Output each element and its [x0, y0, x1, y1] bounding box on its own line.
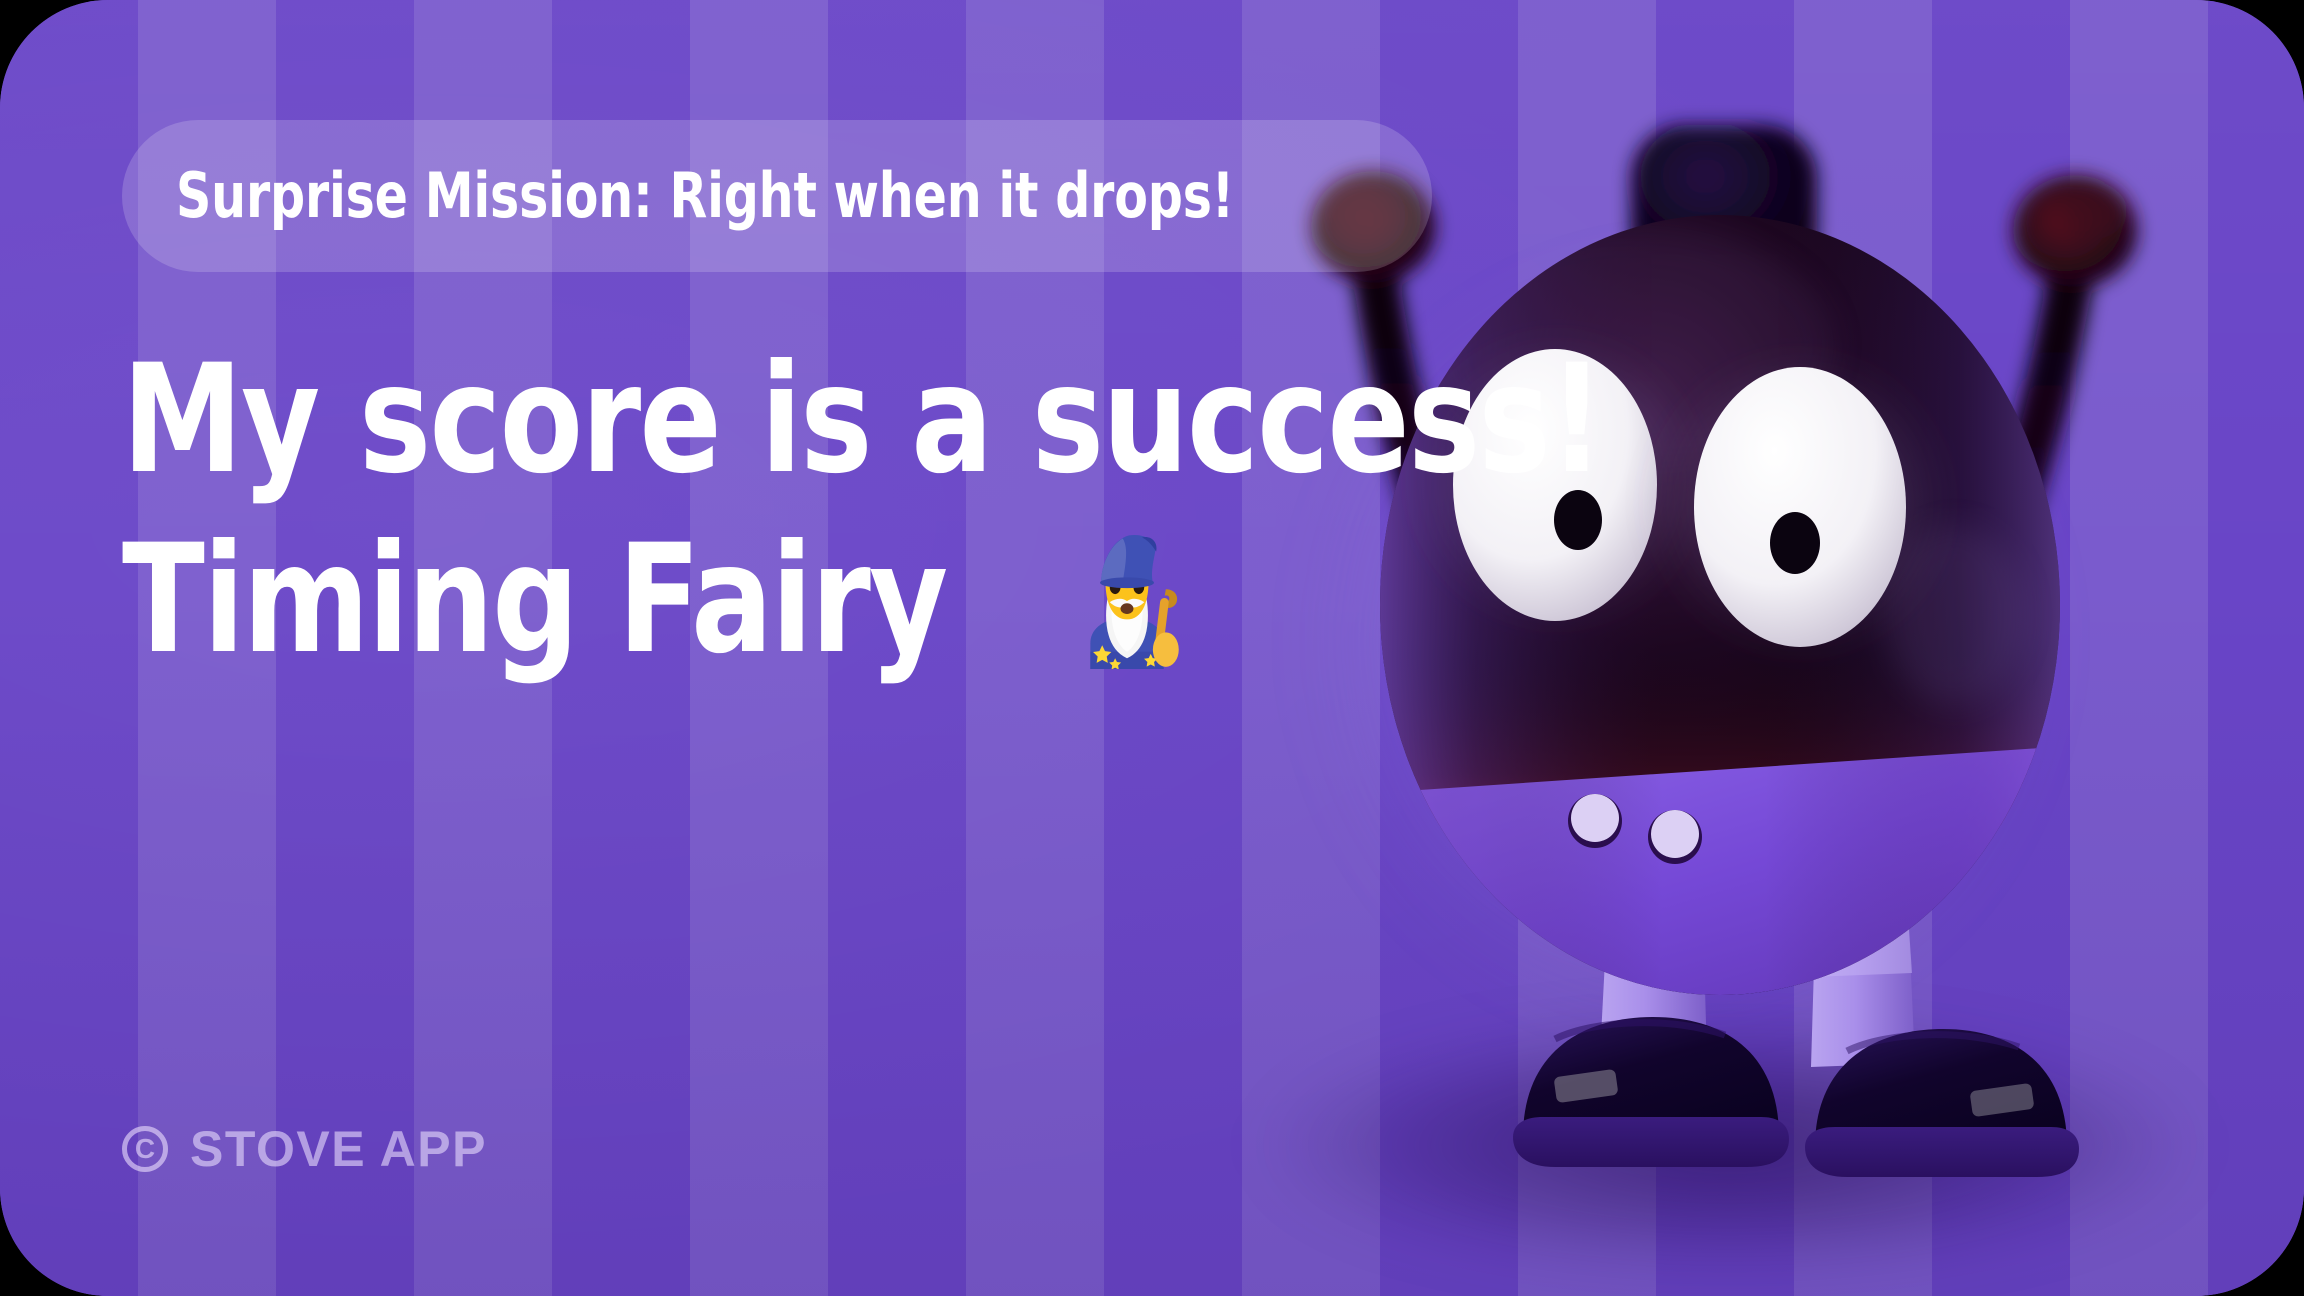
headline-block: My score is a success! Timing Fairy: [122, 330, 1422, 690]
copyright-icon: C: [122, 1126, 168, 1172]
mission-badge: Surprise Mission: Right when it drops!: [122, 120, 1432, 272]
headline-line-1: My score is a success!: [122, 330, 1422, 510]
headline-line-2-text: Timing Fairy: [122, 510, 946, 690]
headline-line-1-text: My score is a success!: [122, 330, 1603, 510]
mission-badge-label: Surprise Mission: Right when it drops!: [176, 165, 1234, 227]
footer-credit: C STOVE APP: [122, 1120, 487, 1178]
footer-brand-label: STOVE APP: [190, 1120, 487, 1178]
text-column: Surprise Mission: Right when it drops! M…: [122, 0, 1422, 1296]
headline-line-2: Timing Fairy: [122, 510, 1422, 690]
right-eye: [1645, 348, 1955, 658]
right-pupil: [1770, 512, 1820, 574]
promo-card: Surprise Mission: Right when it drops! M…: [0, 0, 2304, 1296]
left-shoe: [1513, 1017, 1789, 1167]
mage-wizard-emoji: [1058, 531, 1196, 669]
